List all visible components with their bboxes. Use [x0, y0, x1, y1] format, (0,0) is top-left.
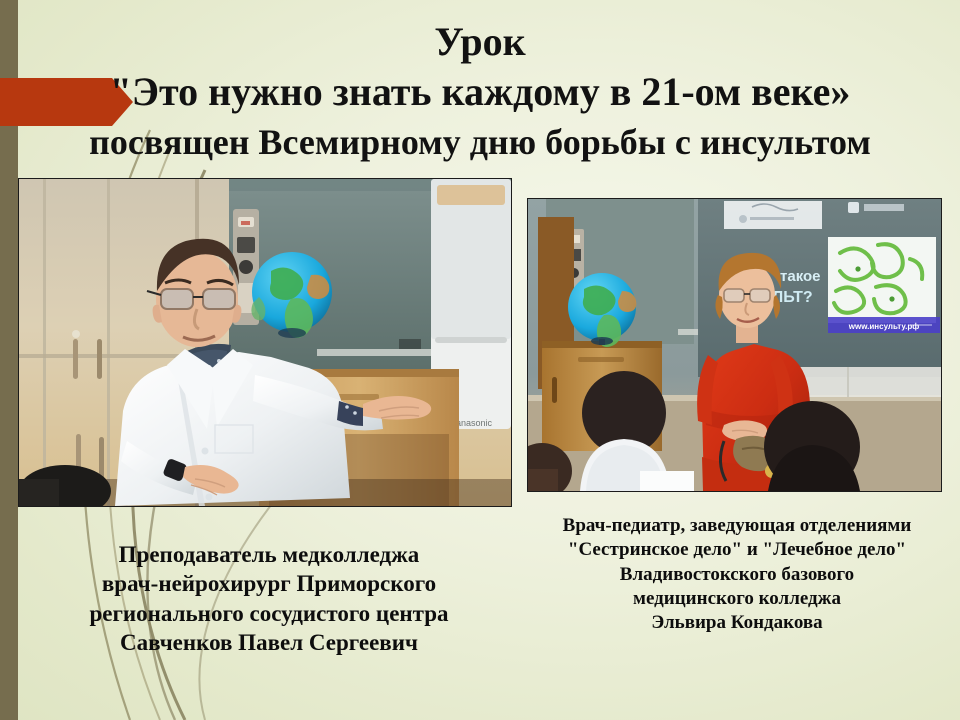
photo-left-doctor: Panasonic: [18, 178, 512, 507]
title-line-3: посвящен Всемирному дню борьбы с инсульт…: [0, 124, 960, 160]
caption-right-line-1: Врач-педиатр, заведующая отделениями: [514, 514, 960, 538]
caption-left-line-1: Преподаватель медколледжа: [26, 540, 512, 569]
caption-left-line-2: врач-нейрохирург Приморского: [26, 569, 512, 598]
caption-right-line-3: Владивостокского базового: [514, 563, 960, 587]
caption-right: Врач-педиатр, заведующая отделениями "Се…: [514, 514, 960, 636]
caption-right-line-5: Эльвира Кондакова: [514, 611, 960, 635]
slide-canvas: Урок "Это нужно знать каждому в 21-ом ве…: [0, 0, 960, 720]
svg-text:www.инсульту.рф: www.инсульту.рф: [848, 322, 919, 331]
caption-right-line-2: "Сестринское дело" и "Лечебное дело": [514, 538, 960, 562]
caption-left-line-4: Савченков Павел Сергеевич: [26, 628, 512, 657]
caption-right-line-4: медицинского колледжа: [514, 587, 960, 611]
caption-left: Преподаватель медколледжа врач-нейрохиру…: [26, 540, 512, 658]
title-line-2: "Это нужно знать каждому в 21-ом веке»: [0, 72, 960, 112]
svg-text:такое: такое: [780, 268, 821, 285]
photo-right-speaker: такое ЛЬТ? www.инсульту.рф: [527, 198, 942, 492]
title-line-1: Урок: [0, 22, 960, 62]
slide-title: Урок "Это нужно знать каждому в 21-ом ве…: [0, 22, 960, 160]
caption-left-line-3: регионального сосудистого центра: [26, 599, 512, 628]
